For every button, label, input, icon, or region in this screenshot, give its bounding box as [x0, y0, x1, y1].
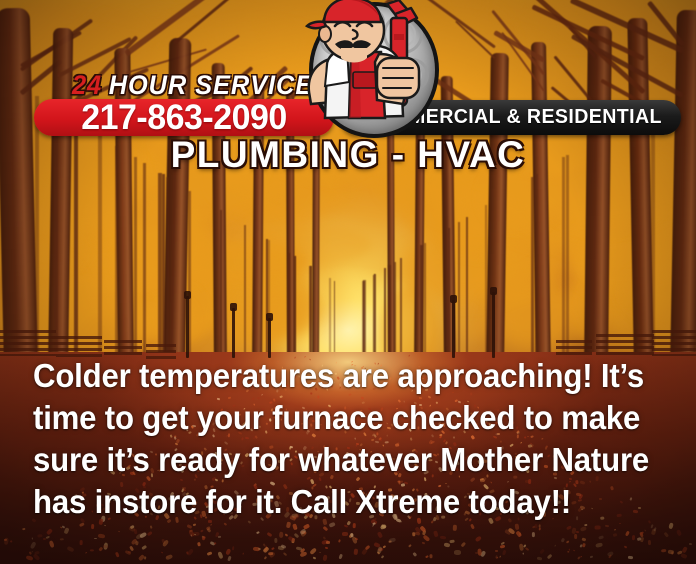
fallen-leaf: [515, 523, 520, 530]
fallen-leaf: [408, 544, 411, 547]
fallen-leaf: [536, 557, 541, 561]
fallen-leaf: [354, 548, 358, 554]
fallen-leaf: [197, 542, 200, 547]
fallen-leaf: [643, 529, 645, 532]
lamp-post: [452, 300, 455, 358]
fallen-leaf: [231, 546, 234, 550]
fallen-leaf: [626, 531, 631, 537]
copy-line: Colder temperatures are approaching! It’…: [33, 356, 628, 398]
fallen-leaf: [661, 548, 666, 552]
fallen-leaf: [319, 551, 321, 553]
fallen-leaf: [633, 509, 638, 513]
fallen-leaf: [49, 540, 55, 548]
fallen-leaf: [272, 548, 275, 551]
fallen-leaf: [547, 553, 553, 559]
fallen-leaf: [46, 536, 50, 540]
distant-tree-trunk: [143, 163, 146, 360]
fallen-leaf: [450, 540, 455, 544]
fallen-leaf: [638, 507, 641, 509]
fallen-leaf: [67, 546, 75, 553]
fallen-leaf: [648, 520, 651, 524]
fallen-leaf: [630, 497, 632, 500]
fallen-leaf: [90, 549, 94, 552]
fallen-leaf: [461, 542, 466, 548]
fallen-leaf: [430, 554, 433, 558]
park-bench: [56, 336, 102, 358]
fallen-leaf: [22, 527, 25, 529]
lamp-head: [230, 303, 237, 311]
fist: [377, 58, 419, 98]
fallen-leaf: [664, 532, 669, 537]
distant-tree-trunk: [566, 155, 569, 360]
distant-tree-trunk: [166, 177, 169, 360]
fallen-leaf: [310, 548, 318, 556]
fallen-leaf: [681, 553, 688, 559]
fallen-leaf: [28, 551, 31, 554]
fallen-leaf: [574, 534, 577, 539]
distant-tree-trunk: [158, 173, 161, 360]
fallen-leaf: [425, 555, 428, 558]
fallen-leaf: [338, 539, 341, 542]
distant-tree-trunk: [134, 157, 137, 360]
fallen-leaf: [202, 536, 206, 541]
distant-tree-trunk: [458, 222, 460, 360]
fallen-leaf: [37, 534, 43, 538]
distant-tree-trunk: [384, 268, 386, 360]
fallen-leaf: [422, 542, 425, 544]
park-bench: [0, 330, 56, 356]
fallen-leaf: [300, 551, 308, 558]
fallen-leaf: [583, 543, 587, 548]
distant-tree-trunk: [363, 280, 365, 360]
lamp-head: [184, 291, 191, 299]
distant-tree-trunk: [448, 228, 450, 360]
fallen-leaf: [256, 532, 259, 534]
distant-tree-trunk: [288, 253, 290, 360]
fallen-leaf: [576, 531, 579, 533]
fallen-leaf: [98, 533, 105, 538]
fallen-leaf: [166, 554, 174, 560]
copy-line: time to get your furnace checked to make: [33, 398, 628, 440]
fallen-leaf: [495, 550, 498, 552]
fallen-leaf: [377, 531, 383, 538]
fallen-leaf: [381, 555, 384, 559]
fallen-leaf: [30, 541, 37, 549]
fallen-leaf: [689, 543, 692, 545]
fallen-leaf: [520, 532, 522, 535]
fallen-leaf: [322, 555, 327, 562]
fallen-leaf: [383, 545, 386, 548]
fallen-leaf: [567, 551, 569, 553]
fallen-leaf: [500, 544, 506, 548]
fallen-leaf: [136, 541, 139, 546]
fallen-leaf: [599, 536, 604, 540]
fallen-leaf: [648, 540, 651, 545]
fallen-leaf: [453, 525, 457, 531]
fallen-leaf: [614, 529, 616, 531]
fallen-leaf: [423, 534, 431, 541]
fallen-leaf: [434, 530, 439, 537]
fallen-leaf: [440, 536, 446, 540]
fallen-leaf: [474, 535, 482, 542]
fallen-leaf: [46, 528, 52, 534]
company-logo-header: 24HOUR SERVICE 217-863-2090 COMMERCIAL &…: [0, 0, 696, 178]
distant-tree-trunk: [531, 177, 534, 360]
distant-tree-trunk: [334, 281, 336, 360]
fallen-leaf: [60, 526, 62, 528]
fallen-leaf: [538, 528, 541, 532]
plumber-character-illustration: [291, 0, 447, 142]
fallen-leaf: [104, 525, 106, 527]
distant-tree-trunk: [162, 174, 165, 360]
fallen-leaf: [338, 554, 343, 560]
fallen-leaf: [98, 547, 102, 552]
distant-tree-trunk: [485, 205, 488, 360]
fallen-leaf: [218, 536, 221, 538]
fallen-leaf: [532, 532, 535, 537]
fallen-leaf: [293, 532, 299, 537]
fallen-leaf: [31, 537, 33, 539]
plumber-mascot: [291, 0, 447, 142]
fallen-leaf: [565, 525, 571, 531]
fallen-leaf: [295, 527, 297, 529]
fallen-leaf: [444, 543, 451, 548]
copy-line: sure it’s ready for whatever Mother Natu…: [33, 440, 628, 482]
fallen-leaf: [627, 555, 632, 558]
distant-tree-trunk: [329, 278, 331, 360]
fallen-leaf: [499, 556, 501, 558]
fallen-leaf: [566, 540, 570, 543]
fallen-leaf: [243, 552, 245, 554]
distant-tree-trunk: [466, 217, 468, 360]
fallen-leaf: [60, 538, 64, 540]
fallen-leaf: [117, 531, 119, 533]
distant-tree-trunk: [362, 281, 364, 360]
fallen-leaf: [624, 546, 628, 549]
fallen-leaf: [283, 552, 287, 556]
park-bench: [652, 330, 696, 356]
fallen-leaf: [590, 556, 593, 559]
fallen-leaf: [304, 524, 311, 530]
fallen-leaf: [313, 557, 316, 560]
distant-tree-trunk: [220, 210, 223, 360]
fallen-leaf: [676, 530, 682, 537]
fallen-leaf: [274, 538, 277, 544]
fallen-leaf: [323, 526, 328, 531]
distant-tree-trunk: [535, 174, 538, 360]
fallen-leaf: [200, 530, 204, 533]
fallen-leaf: [227, 555, 231, 561]
fallen-leaf: [640, 537, 644, 542]
fallen-leaf: [187, 549, 194, 557]
fallen-leaf: [34, 550, 40, 555]
fallen-leaf: [650, 524, 653, 528]
fallen-leaf: [388, 537, 396, 543]
fallen-leaf: [581, 537, 586, 541]
fallen-leaf: [502, 550, 506, 555]
fallen-leaf: [577, 556, 581, 560]
fallen-leaf: [326, 541, 330, 544]
fallen-leaf: [342, 532, 348, 536]
distant-tree-trunk: [420, 245, 422, 360]
fallen-leaf: [454, 550, 461, 555]
fallen-leaf: [91, 523, 95, 528]
fallen-leaf: [186, 524, 191, 529]
park-bench: [596, 334, 654, 358]
fallen-leaf: [64, 528, 69, 535]
fallen-leaf: [206, 551, 212, 556]
fallen-leaf: [80, 540, 83, 545]
fallen-leaf: [147, 531, 153, 537]
fallen-leaf: [413, 552, 417, 557]
lamp-head: [450, 295, 457, 303]
fallen-leaf: [522, 552, 523, 554]
phone-number[interactable]: 217-863-2090: [39, 97, 330, 138]
fallen-leaf: [554, 544, 556, 546]
distant-tree-trunk: [388, 265, 390, 360]
distant-tree-trunk: [374, 274, 376, 360]
fallen-leaf: [115, 552, 119, 557]
fallen-leaf: [470, 524, 475, 530]
fallen-leaf: [579, 526, 586, 532]
fallen-leaf: [596, 542, 603, 548]
fallen-leaf: [573, 550, 576, 552]
lamp-post: [268, 318, 271, 358]
fallen-leaf: [264, 556, 267, 559]
distant-tree-trunk: [424, 243, 426, 360]
fallen-leaf: [525, 547, 530, 551]
fallen-leaf: [150, 525, 152, 528]
fallen-leaf: [632, 535, 635, 540]
copy-line: has instore for it. Call Xtreme today!!: [33, 482, 628, 524]
fallen-leaf: [279, 532, 283, 539]
lamp-head: [266, 313, 273, 321]
lamp-post: [186, 296, 189, 358]
fallen-leaf: [613, 534, 618, 538]
distant-tree-trunk: [294, 256, 296, 360]
fallen-leaf: [10, 540, 13, 543]
distant-tree-trunk: [244, 225, 246, 360]
fallen-leaf: [217, 552, 223, 560]
distant-tree-trunk: [309, 266, 311, 360]
fallen-leaf: [540, 549, 545, 554]
fallen-leaf: [595, 526, 601, 530]
fallen-leaf: [142, 545, 148, 550]
fallen-leaf: [362, 548, 368, 555]
distant-tree-trunk: [394, 262, 396, 360]
fallen-leaf: [604, 525, 608, 528]
fallen-leaf: [668, 523, 673, 530]
fallen-leaf: [85, 551, 87, 553]
fallen-leaf: [267, 531, 273, 536]
lamp-post: [492, 292, 495, 358]
promo-body-copy: Colder temperatures are approaching! It’…: [33, 356, 628, 524]
fallen-leaf: [325, 546, 329, 549]
distant-tree-trunk: [562, 157, 565, 360]
service-hours-label: HOUR SERVICE: [109, 70, 313, 100]
lamp-post: [232, 308, 235, 358]
distant-tree-trunk: [400, 258, 402, 360]
distant-tree-trunk: [373, 275, 375, 360]
fallen-leaf: [94, 538, 97, 540]
fallen-leaf: [161, 551, 163, 553]
lamp-head: [490, 287, 497, 295]
advertisement-graphic: 24HOUR SERVICE 217-863-2090 COMMERCIAL &…: [0, 0, 696, 564]
